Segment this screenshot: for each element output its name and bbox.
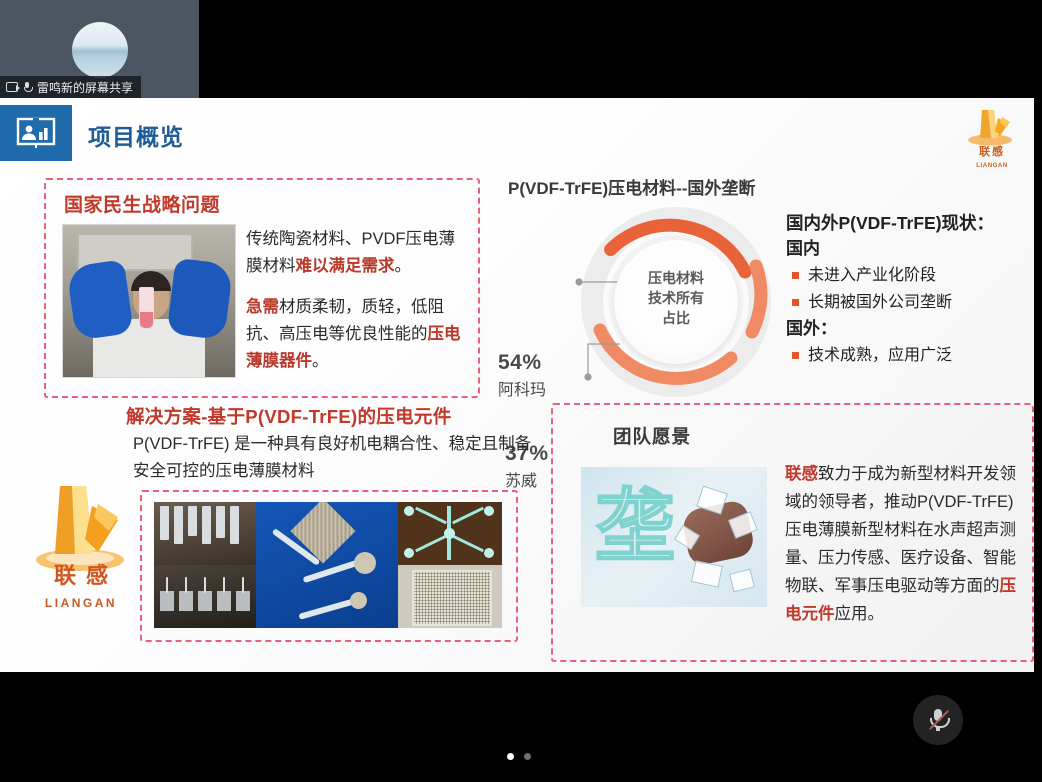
participant-avatar (72, 22, 128, 78)
status-foreign-label: 国外： (786, 316, 1034, 342)
company-logo-small: 联感 LIANGAN (960, 104, 1024, 170)
presentation-chart-icon (0, 105, 72, 161)
page-indicator[interactable] (507, 753, 531, 760)
product-photo-flex-circuit (398, 502, 502, 565)
page-dot-1[interactable] (507, 753, 514, 760)
microphone-icon (23, 82, 32, 93)
video-thumbnail-pane[interactable]: 雷鸣新的屏幕共享 (0, 0, 199, 98)
status-foreign-item-0: 技术成熟，应用广泛 (808, 342, 952, 369)
camera-icon (6, 82, 18, 92)
product-photo-films (154, 502, 256, 565)
vision-character: 垄 (595, 487, 675, 567)
logo-en-text: LIANGAN (960, 163, 1024, 169)
problem-p1-highlight: 难以满足需求 (296, 257, 395, 275)
logo-cn-text: 联感 (960, 143, 1024, 159)
status-block: 国内外P(VDF-TrFE)现状： 国内 未进入产业化阶段 长期被国外公司垄断 … (786, 210, 1034, 369)
mic-muted-button[interactable] (913, 695, 963, 745)
solution-text: P(VDF-TrFE) 是一种具有良好机电耦合性、稳定且制备安全可控的压电薄膜材… (133, 431, 533, 485)
monopoly-title: P(VDF-TrFE)压电材料--国外垄断 (508, 174, 755, 199)
problem-p1b: 。 (395, 257, 412, 275)
scientist-photo (62, 224, 236, 378)
logo-large-cn: 联感 (22, 558, 140, 590)
vision-title: 团队愿景 (613, 423, 691, 449)
screen-share-text: 雷鸣新的屏幕共享 (37, 79, 133, 96)
vision-body-end: 应用。 (835, 605, 885, 623)
zoom-meeting-screen: 雷鸣新的屏幕共享 项目概览 联感 (0, 0, 1042, 782)
square-bullet-icon (792, 299, 799, 306)
status-heading: 国内外P(VDF-TrFE)现状： (786, 210, 1034, 236)
vision-highlight-brand: 联感 (785, 465, 818, 483)
company-logo-large: 联感 LIANGAN (22, 476, 140, 616)
meeting-bottom-bar (0, 672, 1042, 782)
donut-hole: 压电材料 技术所有 占比 (614, 240, 738, 364)
list-item: 技术成熟，应用广泛 (786, 342, 1034, 369)
donut-center-line3: 占比 (614, 308, 738, 328)
donut-label-arkema: 54% 阿科玛 (498, 351, 546, 400)
page-title: 项目概览 (88, 118, 184, 152)
product-photo-grid (154, 502, 502, 628)
vision-text: 联感致力于成为新型材料开发领域的领导者，推动P(VDF-TrFE)压电薄膜新型材… (785, 460, 1017, 628)
product-photo-sensors (256, 502, 398, 628)
product-photo-array (398, 565, 502, 628)
vision-body: 致力于成为新型材料开发领域的领导者，推动P(VDF-TrFE)压电薄膜新型材料在… (785, 465, 1016, 595)
status-domestic-label: 国内 (786, 236, 1034, 262)
microphone-muted-icon (927, 708, 949, 732)
problem-title: 国家民生战略问题 (64, 190, 220, 217)
problem-p2b: 。 (312, 352, 329, 370)
square-bullet-icon (792, 352, 799, 359)
shared-slide: 项目概览 联感 LIANGAN 国家民生战略问题 传统陶瓷材料、PVDF压电薄膜… (0, 98, 1034, 672)
donut-center-line2: 技术所有 (614, 288, 738, 308)
donut-center-line1: 压电材料 (614, 268, 738, 288)
screen-share-label: 雷鸣新的屏幕共享 (0, 76, 141, 98)
list-item: 长期被国外公司垄断 (786, 289, 1034, 316)
problem-p2-highlight-1: 急需 (246, 298, 279, 316)
list-item: 未进入产业化阶段 (786, 262, 1034, 289)
status-domestic-item-0: 未进入产业化阶段 (808, 262, 936, 289)
logo-large-en: LIANGAN (22, 596, 140, 610)
status-domestic-item-1: 长期被国外公司垄断 (808, 289, 952, 316)
problem-box: 国家民生战略问题 传统陶瓷材料、PVDF压电薄膜材料难以满足需求。 急需材质柔韧… (44, 178, 480, 398)
problem-text: 传统陶瓷材料、PVDF压电薄膜材料难以满足需求。 急需材质柔韧，质轻，低阻抗、高… (246, 226, 462, 375)
product-photo-electrodes (154, 565, 256, 628)
product-gallery-box (140, 490, 518, 642)
donut-chart: 压电材料 技术所有 占比 (560, 198, 790, 408)
vision-box: 团队愿景 垄 联感致力于成为新型材料开发领域的领导者，推动P(VDF-TrFE)… (551, 403, 1034, 662)
page-dot-2[interactable] (524, 753, 531, 760)
square-bullet-icon (792, 272, 799, 279)
solution-title: 解决方案-基于P(VDF-TrFE)的压电元件 (126, 403, 452, 429)
donut-center-label: 压电材料 技术所有 占比 (614, 268, 738, 328)
donut-value-arkema: 54% (498, 351, 546, 375)
vision-illustration: 垄 (581, 467, 767, 607)
donut-name-arkema: 阿科玛 (498, 376, 546, 400)
